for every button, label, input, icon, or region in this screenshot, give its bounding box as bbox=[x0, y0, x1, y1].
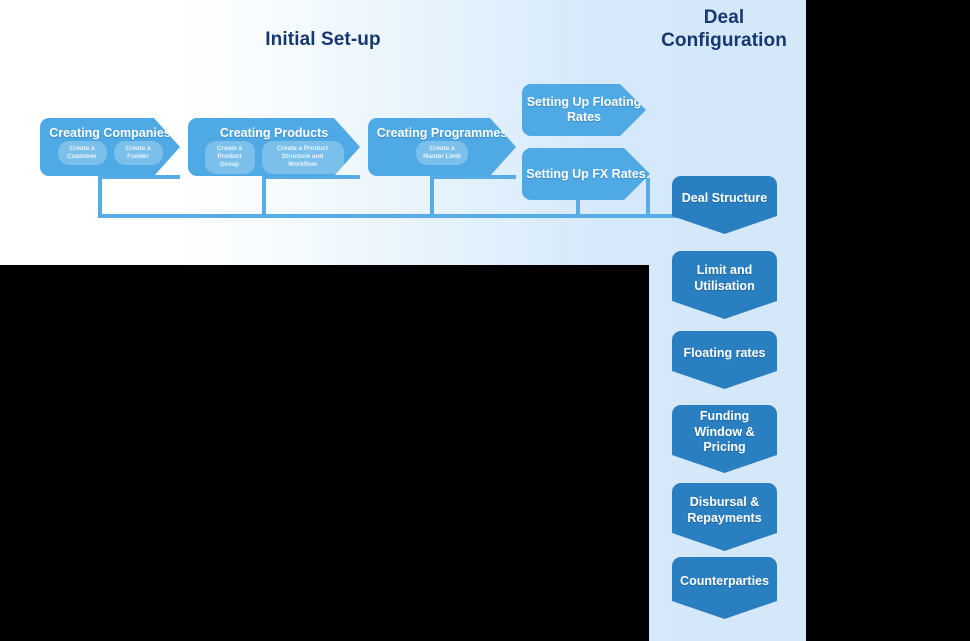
stage-title: Creating Programmes bbox=[377, 126, 508, 141]
section-heading-deal-configuration: Deal Configuration bbox=[654, 6, 794, 52]
step-create-a-funder[interactable]: Create a Funder bbox=[114, 141, 163, 165]
stage-steps: Create a Customer Create a Funder bbox=[58, 141, 163, 165]
occluder-panel-right bbox=[806, 0, 970, 641]
occluder-panel-left bbox=[0, 265, 649, 641]
stage-steps: Create a Product Group Create a Product … bbox=[205, 141, 344, 174]
stage-title: Setting Up Floating Rates bbox=[522, 95, 646, 125]
step-create-a-customer[interactable]: Create a Customer bbox=[58, 141, 107, 165]
connector-rail bbox=[98, 214, 688, 218]
connector-stem-programmes bbox=[430, 178, 434, 218]
stage-steps: Create a Master Limit bbox=[416, 141, 468, 165]
stage-creating-programmes[interactable]: Creating Programmes Create a Master Limi… bbox=[368, 118, 516, 176]
stage-setting-up-fx-rates[interactable]: Setting Up FX Rates bbox=[522, 148, 650, 200]
connector-stem-companies bbox=[98, 178, 102, 218]
stage-title: Creating Products bbox=[220, 126, 328, 141]
diagram-canvas: Initial Set-up Deal Configuration Creati… bbox=[0, 0, 970, 641]
connector-stem-products bbox=[262, 178, 266, 218]
connector-stem-fx-rates bbox=[646, 178, 650, 218]
section-heading-initial-setup: Initial Set-up bbox=[223, 28, 423, 51]
stage-creating-companies[interactable]: Creating Companies Create a Customer Cre… bbox=[40, 118, 180, 176]
stage-setting-up-floating-rates[interactable]: Setting Up Floating Rates bbox=[522, 84, 646, 136]
stage-creating-products[interactable]: Creating Products Create a Product Group… bbox=[188, 118, 360, 176]
step-create-a-master-limit[interactable]: Create a Master Limit bbox=[416, 141, 468, 165]
step-create-a-product-group[interactable]: Create a Product Group bbox=[205, 141, 255, 174]
stage-title: Setting Up FX Rates bbox=[526, 167, 645, 182]
step-create-a-product-structure-and-workflow[interactable]: Create a Product Structure and Workflow bbox=[262, 141, 344, 174]
stage-title: Creating Companies bbox=[49, 126, 171, 141]
